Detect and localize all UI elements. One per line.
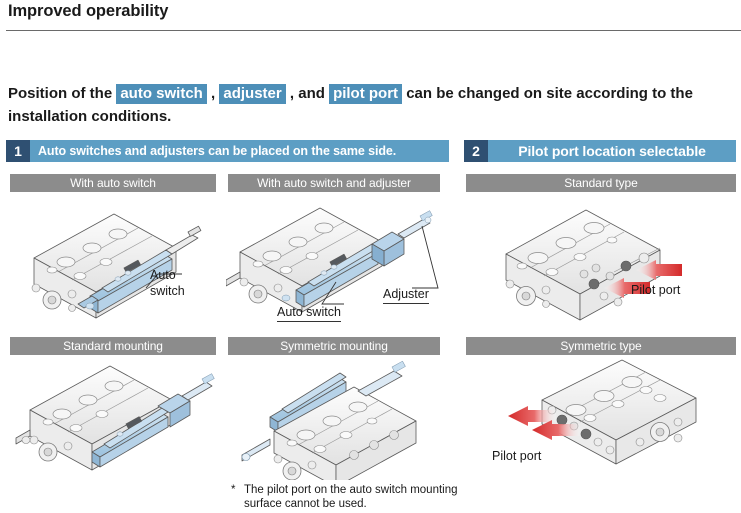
intro-separator-1: ,: [207, 85, 220, 102]
section-header-1: 1 Auto switches and adjusters can be pla…: [6, 140, 449, 162]
illustration-with-auto-switch: [6, 196, 224, 326]
caption-with-auto-switch: With auto switch: [10, 174, 216, 192]
footnote-marker: *: [231, 483, 235, 497]
callout-pilot-port-standard: Pilot port: [631, 283, 680, 298]
badge-auto-switch: auto switch: [116, 84, 207, 104]
badge-adjuster: adjuster: [219, 84, 285, 104]
callout-auto-switch-b: Auto switch: [277, 305, 341, 322]
illustration-standard-mounting: [6, 358, 224, 483]
illustration-standard-type: [464, 196, 738, 326]
caption-with-auto-switch-and-adjuster: With auto switch and adjuster: [228, 174, 440, 192]
intro-separator-2: , and: [286, 85, 329, 102]
callout-auto-switch-a: Auto switch: [150, 267, 206, 299]
page-title: Improved operability: [8, 2, 168, 21]
section-number-1: 1: [6, 140, 30, 162]
intro-paragraph: Position of the auto switch , adjuster ,…: [8, 82, 708, 128]
intro-prefix: Position of the: [8, 85, 116, 102]
illustration-symmetric-mounting: [226, 355, 444, 480]
callout-adjuster: Adjuster: [383, 287, 429, 304]
caption-standard-type: Standard type: [466, 174, 736, 192]
footnote-text: The pilot port on the auto switch mounti…: [231, 483, 481, 511]
caption-symmetric-mounting: Symmetric mounting: [228, 337, 440, 355]
datasheet-page: Improved operability Position of the aut…: [0, 0, 741, 513]
title-divider: [6, 30, 741, 31]
section-heading-1: Auto switches and adjusters can be place…: [30, 140, 449, 162]
section-number-2: 2: [464, 140, 488, 162]
caption-symmetric-type: Symmetric type: [466, 337, 736, 355]
section-heading-2: Pilot port location selectable: [488, 140, 736, 162]
section-header-2: 2 Pilot port location selectable: [464, 140, 736, 162]
footnote: * The pilot port on the auto switch moun…: [231, 483, 481, 511]
badge-pilot-port: pilot port: [329, 84, 402, 104]
caption-standard-mounting: Standard mounting: [10, 337, 216, 355]
callout-pilot-port-symmetric: Pilot port: [492, 449, 541, 464]
